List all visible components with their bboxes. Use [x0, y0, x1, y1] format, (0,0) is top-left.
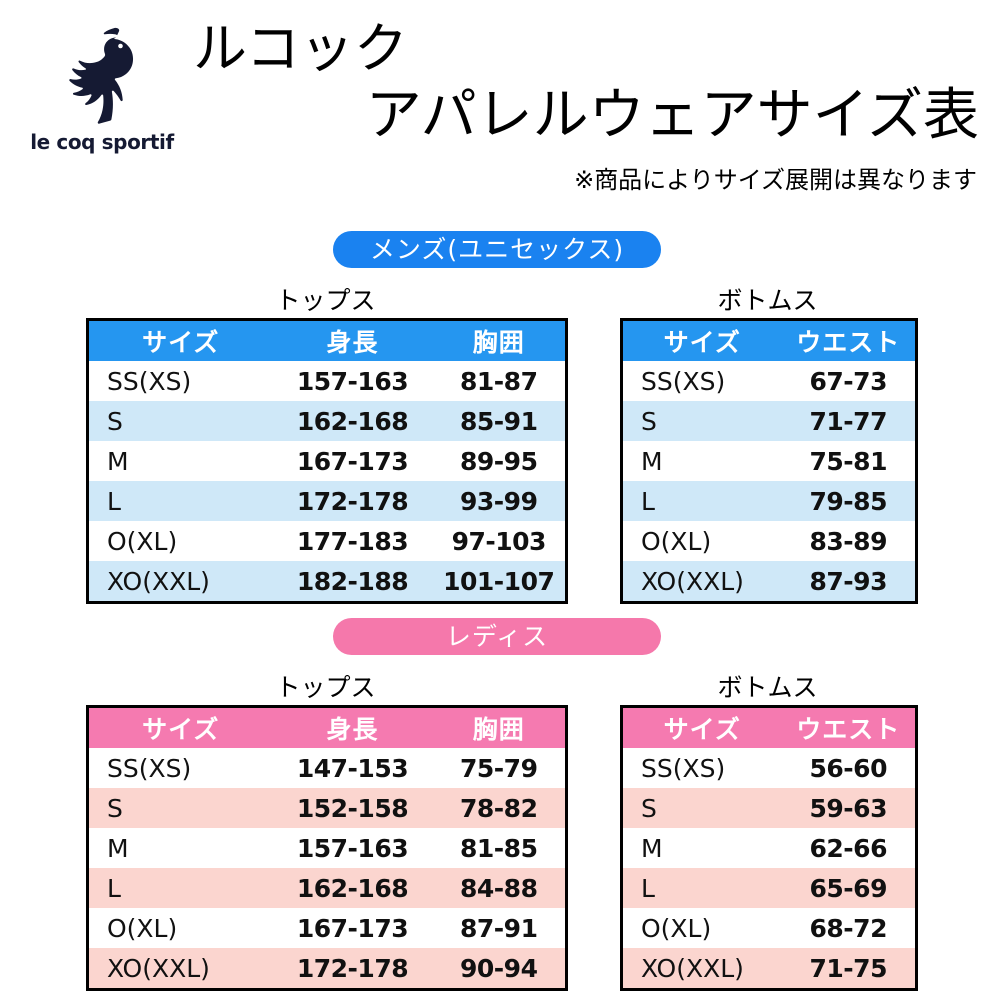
cell-height: 162-168 — [273, 868, 433, 908]
cell-waist: 59-63 — [782, 788, 917, 828]
caption-mens-tops: トップス — [86, 281, 565, 317]
cell-height: 157-163 — [273, 828, 433, 868]
cell-waist: 83-89 — [782, 521, 917, 561]
table-row: S 59-63 — [622, 788, 917, 828]
cell-size: SS(XS) — [622, 748, 782, 788]
caption-ladies-bottoms: ボトムス — [620, 668, 915, 704]
caption-mens-bottoms: ボトムス — [620, 281, 915, 317]
cell-chest: 89-95 — [433, 441, 567, 481]
table-header-row: サイズ 身長 胸囲 — [88, 707, 567, 749]
cell-chest: 101-107 — [433, 561, 567, 603]
table-row: L 162-168 84-88 — [88, 868, 567, 908]
table-mens-tops: サイズ 身長 胸囲 SS(XS) 157-163 81-87 S 162-168… — [86, 318, 568, 604]
cell-size: XO(XXL) — [622, 561, 782, 603]
cell-chest: 84-88 — [433, 868, 567, 908]
table-row: L 172-178 93-99 — [88, 481, 567, 521]
cell-size: M — [622, 441, 782, 481]
cell-chest: 81-87 — [433, 361, 567, 401]
table-row: XO(XXL) 182-188 101-107 — [88, 561, 567, 603]
cell-size: XO(XXL) — [88, 561, 273, 603]
table-row: XO(XXL) 172-178 90-94 — [88, 948, 567, 990]
table-row: M 75-81 — [622, 441, 917, 481]
cell-height: 147-153 — [273, 748, 433, 788]
cell-height: 167-173 — [273, 908, 433, 948]
rooster-icon — [54, 26, 150, 130]
table-row: L 65-69 — [622, 868, 917, 908]
cell-chest: 90-94 — [433, 948, 567, 990]
cell-size: O(XL) — [622, 908, 782, 948]
column-header-height: 身長 — [273, 707, 433, 749]
brand-logo: le coq sportif — [22, 26, 182, 166]
cell-size: M — [622, 828, 782, 868]
page-header: le coq sportif ルコック アパレルウェアサイズ表 ※商品によりサイ… — [0, 0, 1000, 215]
table-row: SS(XS) 56-60 — [622, 748, 917, 788]
cell-waist: 65-69 — [782, 868, 917, 908]
cell-size: XO(XXL) — [622, 948, 782, 990]
cell-waist: 87-93 — [782, 561, 917, 603]
table-row: XO(XXL) 87-93 — [622, 561, 917, 603]
cell-size: S — [622, 788, 782, 828]
cell-size: SS(XS) — [88, 748, 273, 788]
cell-chest: 97-103 — [433, 521, 567, 561]
table-row: O(XL) 177-183 97-103 — [88, 521, 567, 561]
cell-size: SS(XS) — [88, 361, 273, 401]
table-row: SS(XS) 67-73 — [622, 361, 917, 401]
table-row: SS(XS) 157-163 81-87 — [88, 361, 567, 401]
brand-wordmark: le coq sportif — [22, 130, 182, 154]
table-row: S 152-158 78-82 — [88, 788, 567, 828]
cell-waist: 62-66 — [782, 828, 917, 868]
section-badge-ladies: レディス — [333, 618, 661, 655]
cell-size: XO(XXL) — [88, 948, 273, 990]
cell-height: 162-168 — [273, 401, 433, 441]
cell-height: 172-178 — [273, 481, 433, 521]
column-header-waist: ウエスト — [782, 320, 917, 362]
table-row: O(XL) 83-89 — [622, 521, 917, 561]
cell-chest: 93-99 — [433, 481, 567, 521]
cell-size: O(XL) — [88, 521, 273, 561]
cell-waist: 71-75 — [782, 948, 917, 990]
cell-height: 157-163 — [273, 361, 433, 401]
table-ladies-tops: サイズ 身長 胸囲 SS(XS) 147-153 75-79 S 152-158… — [86, 705, 568, 991]
column-header-size: サイズ — [622, 320, 782, 362]
page-title: ルコック アパレルウェアサイズ表 ※商品によりサイズ展開は異なります — [185, 22, 985, 195]
cell-waist: 79-85 — [782, 481, 917, 521]
column-header-chest: 胸囲 — [433, 707, 567, 749]
cell-waist: 56-60 — [782, 748, 917, 788]
table-row: M 167-173 89-95 — [88, 441, 567, 481]
cell-size: S — [88, 788, 273, 828]
cell-chest: 75-79 — [433, 748, 567, 788]
column-header-size: サイズ — [622, 707, 782, 749]
column-header-waist: ウエスト — [782, 707, 917, 749]
cell-size: O(XL) — [622, 521, 782, 561]
column-header-size: サイズ — [88, 320, 273, 362]
cell-size: M — [88, 828, 273, 868]
title-note: ※商品によりサイズ展開は異なります — [185, 160, 985, 195]
column-header-size: サイズ — [88, 707, 273, 749]
table-header-row: サイズ ウエスト — [622, 707, 917, 749]
table-header-row: サイズ 身長 胸囲 — [88, 320, 567, 362]
column-header-chest: 胸囲 — [433, 320, 567, 362]
section-badge-mens: メンズ(ユニセックス) — [333, 231, 661, 268]
cell-size: L — [622, 481, 782, 521]
cell-waist: 75-81 — [782, 441, 917, 481]
page-title-line-1: ルコック — [185, 22, 985, 76]
cell-height: 152-158 — [273, 788, 433, 828]
cell-height: 182-188 — [273, 561, 433, 603]
table-row: S 162-168 85-91 — [88, 401, 567, 441]
cell-chest: 85-91 — [433, 401, 567, 441]
caption-ladies-tops: トップス — [86, 668, 565, 704]
cell-chest: 81-85 — [433, 828, 567, 868]
table-row: XO(XXL) 71-75 — [622, 948, 917, 990]
page-title-line-2: アパレルウェアサイズ表 — [185, 88, 985, 144]
column-header-height: 身長 — [273, 320, 433, 362]
table-row: SS(XS) 147-153 75-79 — [88, 748, 567, 788]
cell-chest: 87-91 — [433, 908, 567, 948]
table-row: S 71-77 — [622, 401, 917, 441]
table-row: O(XL) 68-72 — [622, 908, 917, 948]
table-row: L 79-85 — [622, 481, 917, 521]
table-mens-bottoms: サイズ ウエスト SS(XS) 67-73 S 71-77 M 75-81 L … — [620, 318, 918, 604]
table-row: M 157-163 81-85 — [88, 828, 567, 868]
cell-size: M — [88, 441, 273, 481]
cell-chest: 78-82 — [433, 788, 567, 828]
cell-size: SS(XS) — [622, 361, 782, 401]
cell-height: 167-173 — [273, 441, 433, 481]
cell-size: S — [88, 401, 273, 441]
table-row: O(XL) 167-173 87-91 — [88, 908, 567, 948]
table-ladies-bottoms: サイズ ウエスト SS(XS) 56-60 S 59-63 M 62-66 L … — [620, 705, 918, 991]
cell-height: 172-178 — [273, 948, 433, 990]
cell-size: L — [88, 481, 273, 521]
cell-size: L — [88, 868, 273, 908]
table-row: M 62-66 — [622, 828, 917, 868]
cell-size: S — [622, 401, 782, 441]
table-header-row: サイズ ウエスト — [622, 320, 917, 362]
cell-height: 177-183 — [273, 521, 433, 561]
cell-size: O(XL) — [88, 908, 273, 948]
cell-waist: 71-77 — [782, 401, 917, 441]
cell-waist: 68-72 — [782, 908, 917, 948]
cell-waist: 67-73 — [782, 361, 917, 401]
cell-size: L — [622, 868, 782, 908]
